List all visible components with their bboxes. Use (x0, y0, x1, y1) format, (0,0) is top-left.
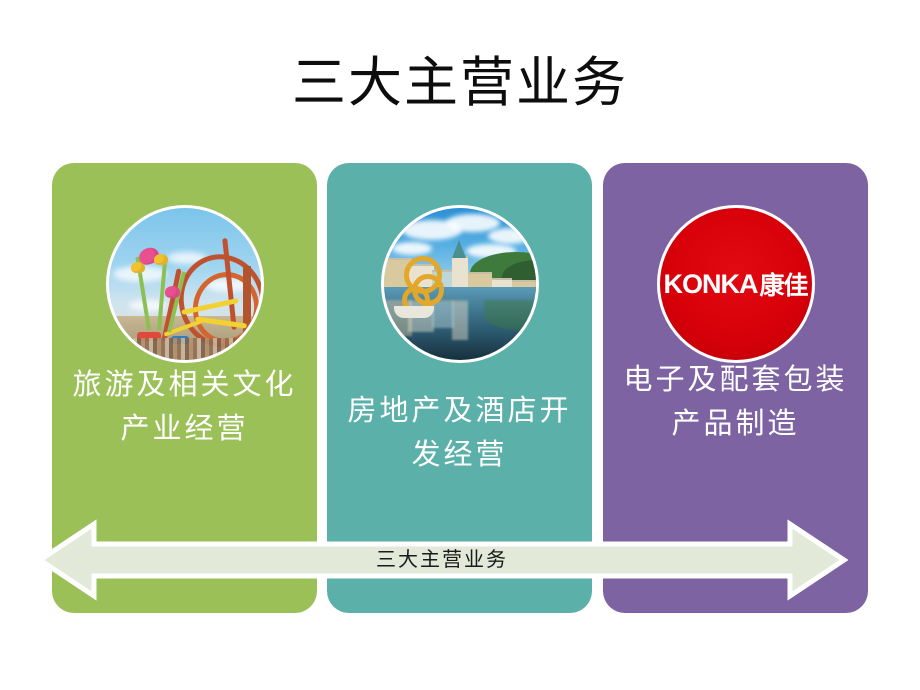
slide-canvas: 三大主营业务 (0, 0, 920, 690)
panel-electronics-label: 电子及配套包装产品制造 (617, 358, 854, 446)
panel-realestate-label: 房地产及酒店开发经营 (341, 389, 578, 477)
arrow-label: 三大主营业务 (36, 546, 848, 574)
konka-logo: KONKA 康佳 (657, 205, 815, 363)
double-arrow-banner: 三大主营业务 (36, 518, 848, 602)
lakeside-town-photo (381, 205, 539, 363)
lakeside-town-illustration (384, 208, 536, 360)
konka-cjk-text: 康佳 (759, 266, 807, 302)
konka-logo-badge: KONKA 康佳 (660, 208, 812, 360)
konka-latin-text: KONKA (663, 269, 757, 300)
page-title: 三大主营业务 (0, 48, 920, 118)
panel-tourism-label: 旅游及相关文化产业经营 (66, 363, 303, 451)
amusement-park-illustration (109, 208, 261, 360)
amusement-park-photo (106, 205, 264, 363)
